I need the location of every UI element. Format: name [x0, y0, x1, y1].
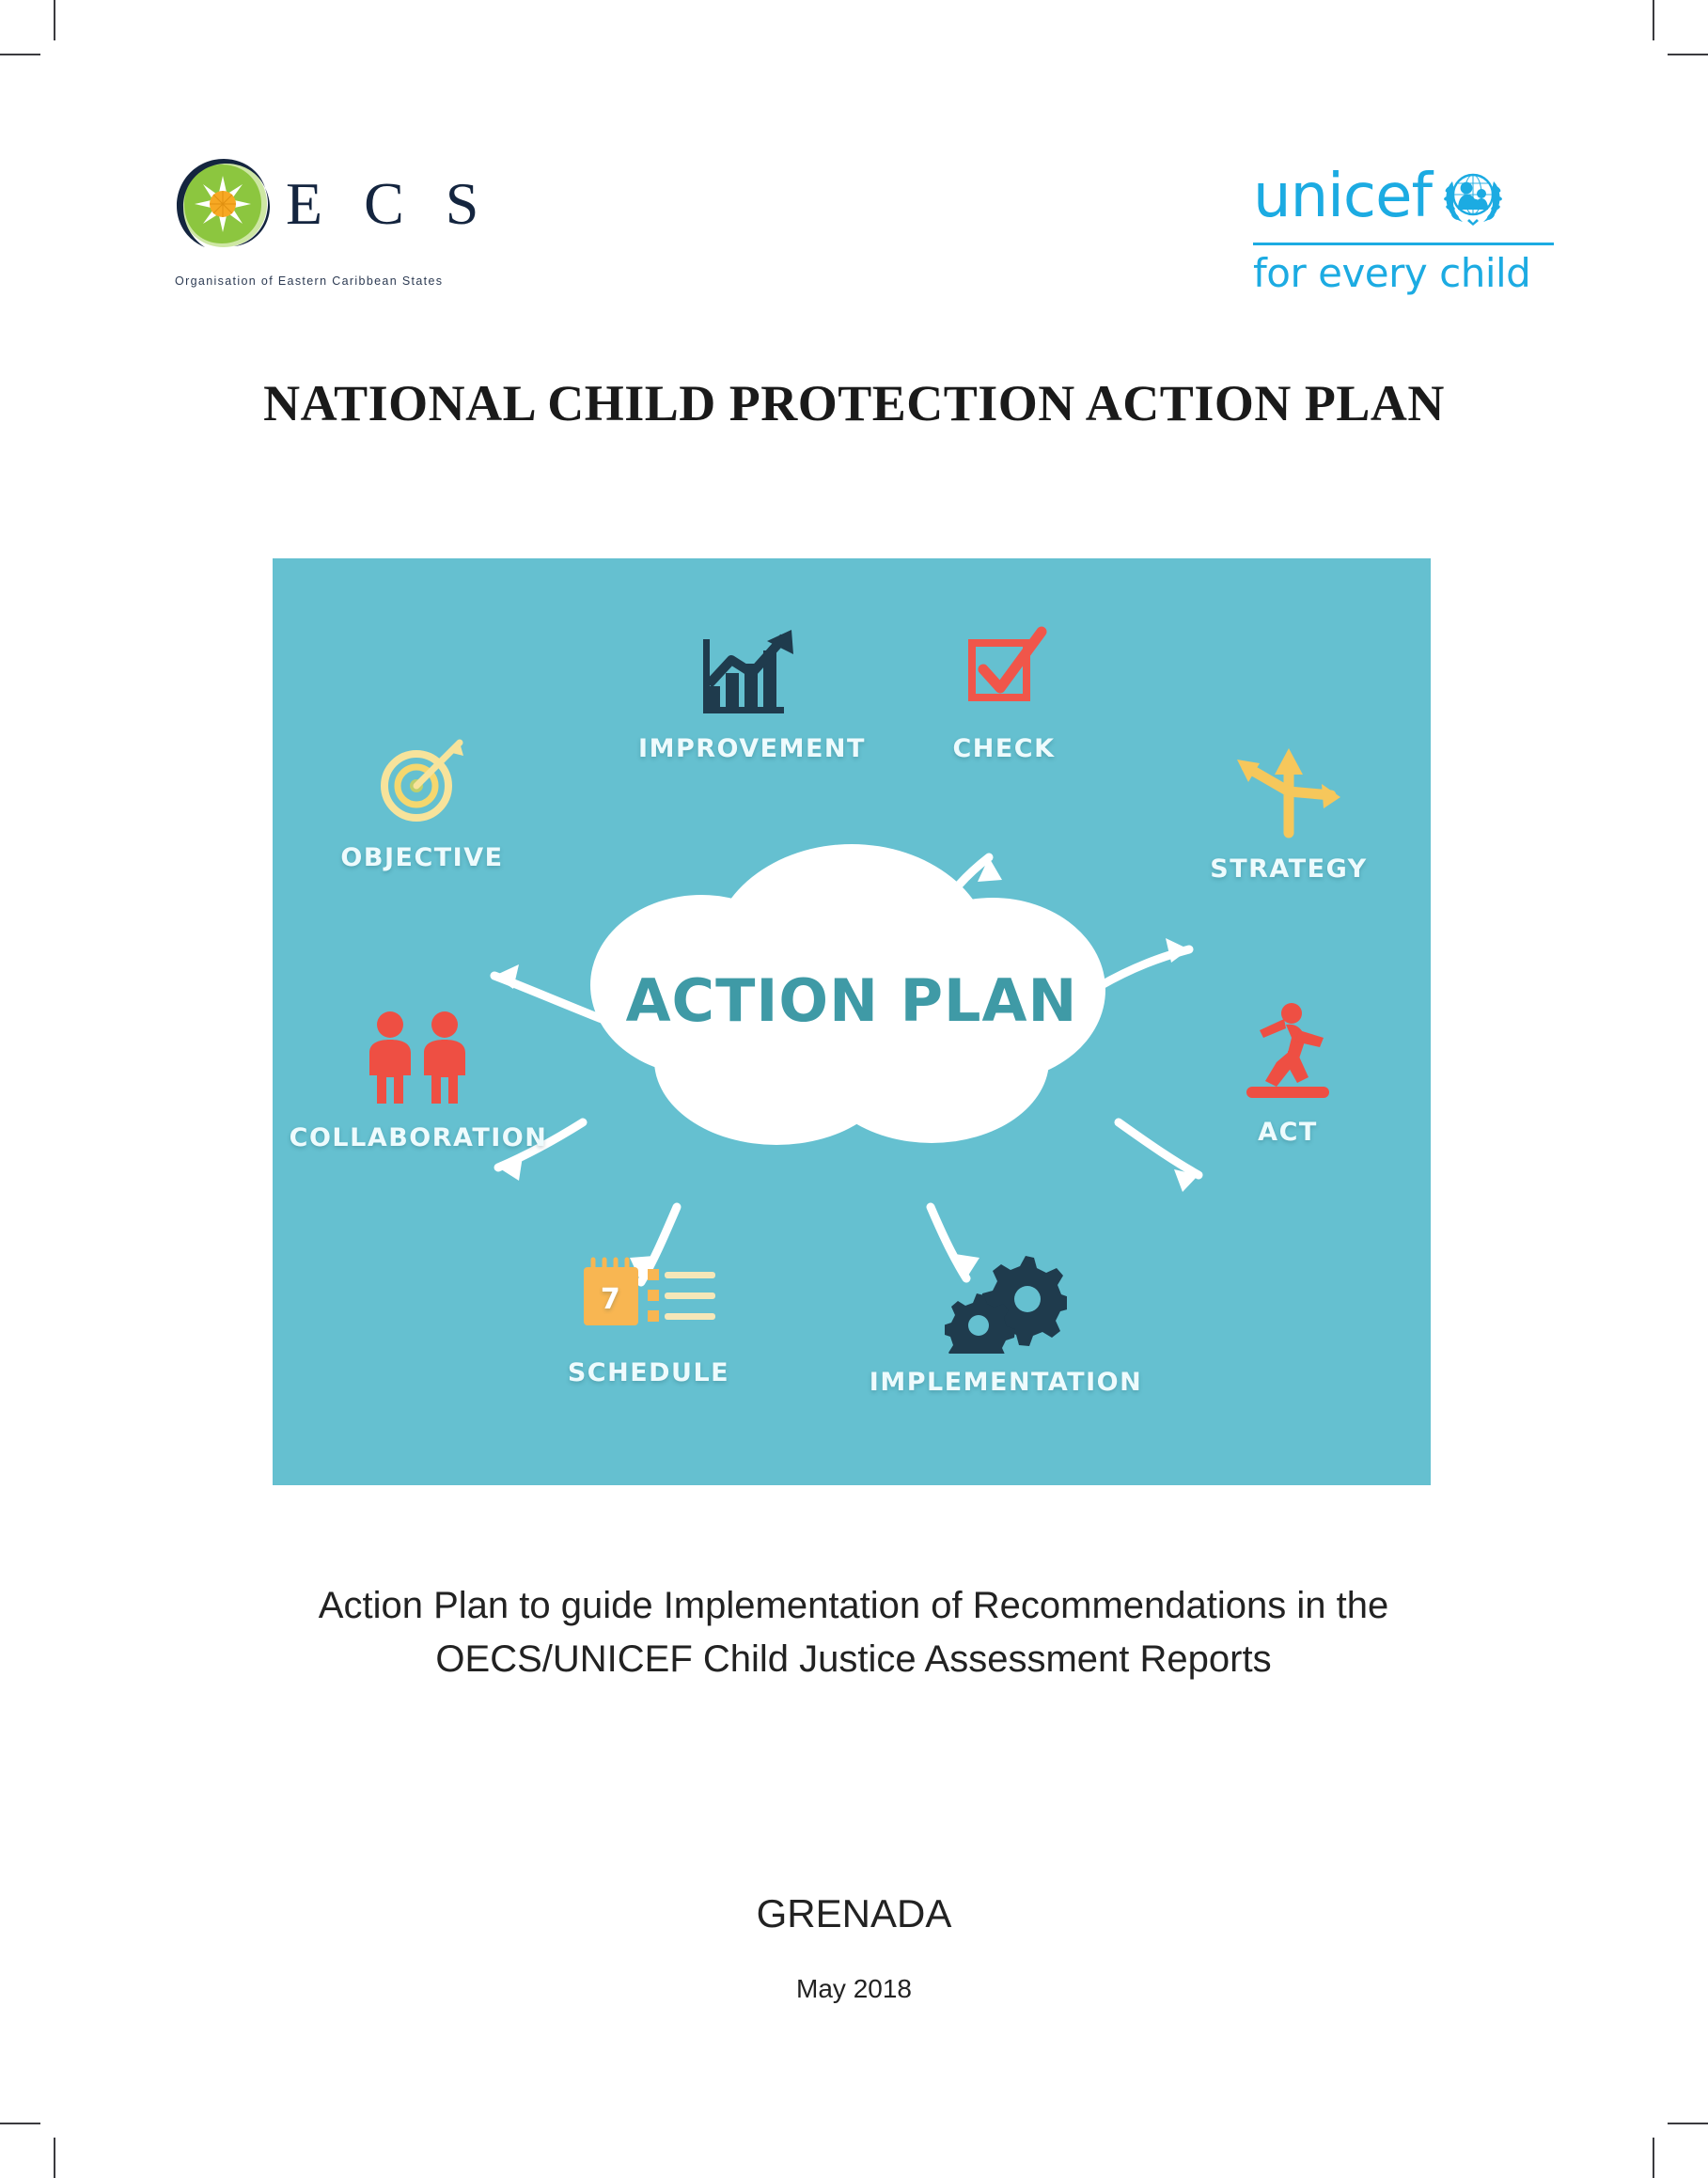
document-cover-page: E C S Organisation of Eastern Caribbean …: [0, 0, 1708, 2178]
node-check-label: CHECK: [952, 734, 1055, 763]
node-collaboration-label: COLLABORATION: [290, 1123, 548, 1152]
gears-icon: [855, 1250, 1156, 1360]
unicef-wordmark: unicef: [1253, 166, 1432, 227]
oecs-emblem-icon: [175, 155, 273, 253]
action-plan-illustration: ACTION PLAN: [273, 558, 1431, 1485]
crop-mark-top-right-vertical: [1653, 0, 1654, 40]
two-people-icon: [282, 1010, 555, 1116]
crop-mark-bottom-right-vertical: [1653, 2138, 1654, 2178]
node-act-label: ACT: [1258, 1118, 1318, 1147]
node-implementation-label: IMPLEMENTATION: [870, 1368, 1142, 1397]
node-improvement-label: IMPROVEMENT: [638, 734, 866, 763]
crop-mark-top-left-horizontal: [0, 54, 40, 55]
page-title: NATIONAL CHILD PROTECTION ACTION PLAN: [0, 374, 1708, 432]
branching-arrows-icon: [1184, 743, 1393, 847]
logo-row: E C S Organisation of Eastern Caribbean …: [0, 149, 1708, 337]
oecs-logo: E C S Organisation of Eastern Caribbean …: [175, 149, 494, 318]
node-implementation: IMPLEMENTATION: [855, 1250, 1156, 1397]
oecs-logo-top: E C S: [175, 149, 494, 259]
unicef-logo: unicef: [1253, 156, 1554, 316]
node-check: CHECK: [910, 622, 1098, 763]
node-improvement: IMPROVEMENT: [620, 622, 884, 763]
node-act: ACT: [1203, 1000, 1372, 1147]
unicef-logo-top: unicef: [1253, 156, 1554, 237]
node-strategy: STRATEGY: [1184, 743, 1393, 884]
un-globe-mother-child-icon: [1439, 163, 1507, 230]
node-strategy-label: STRATEGY: [1210, 854, 1367, 884]
crop-mark-bottom-left-horizontal: [0, 2123, 40, 2124]
node-objective: OBJECTIVE: [314, 731, 530, 872]
unicef-divider-rule: [1253, 243, 1554, 245]
node-schedule-label: SCHEDULE: [568, 1358, 729, 1387]
document-date: May 2018: [0, 1974, 1708, 2004]
subtitle-line-2: OECS/UNICEF Child Justice Assessment Rep…: [243, 1633, 1465, 1686]
checkbox-tick-icon: [910, 622, 1098, 727]
crop-mark-top-left-vertical: [54, 0, 55, 40]
oecs-wordmark: E C S: [286, 174, 492, 234]
crop-mark-top-right-horizontal: [1668, 54, 1708, 55]
subtitle-line-1: Action Plan to guide Implementation of R…: [243, 1579, 1465, 1633]
unicef-tagline: for every child: [1253, 253, 1554, 294]
calendar-checklist-icon: 7: [517, 1256, 780, 1351]
crop-mark-bottom-right-horizontal: [1668, 2123, 1708, 2124]
crop-mark-bottom-left-vertical: [54, 2138, 55, 2178]
node-objective-label: OBJECTIVE: [340, 843, 503, 872]
svg-text:7: 7: [601, 1283, 621, 1316]
target-dart-icon: [314, 731, 530, 836]
running-person-icon: [1203, 1000, 1372, 1110]
bar-chart-arrow-icon: [620, 622, 884, 727]
document-subtitle: Action Plan to guide Implementation of R…: [243, 1579, 1465, 1686]
node-collaboration: COLLABORATION: [282, 1010, 555, 1152]
oecs-tagline: Organisation of Eastern Caribbean States: [175, 274, 494, 288]
country-name: GRENADA: [0, 1891, 1708, 1936]
node-schedule: 7 SCHEDULE: [517, 1256, 780, 1387]
